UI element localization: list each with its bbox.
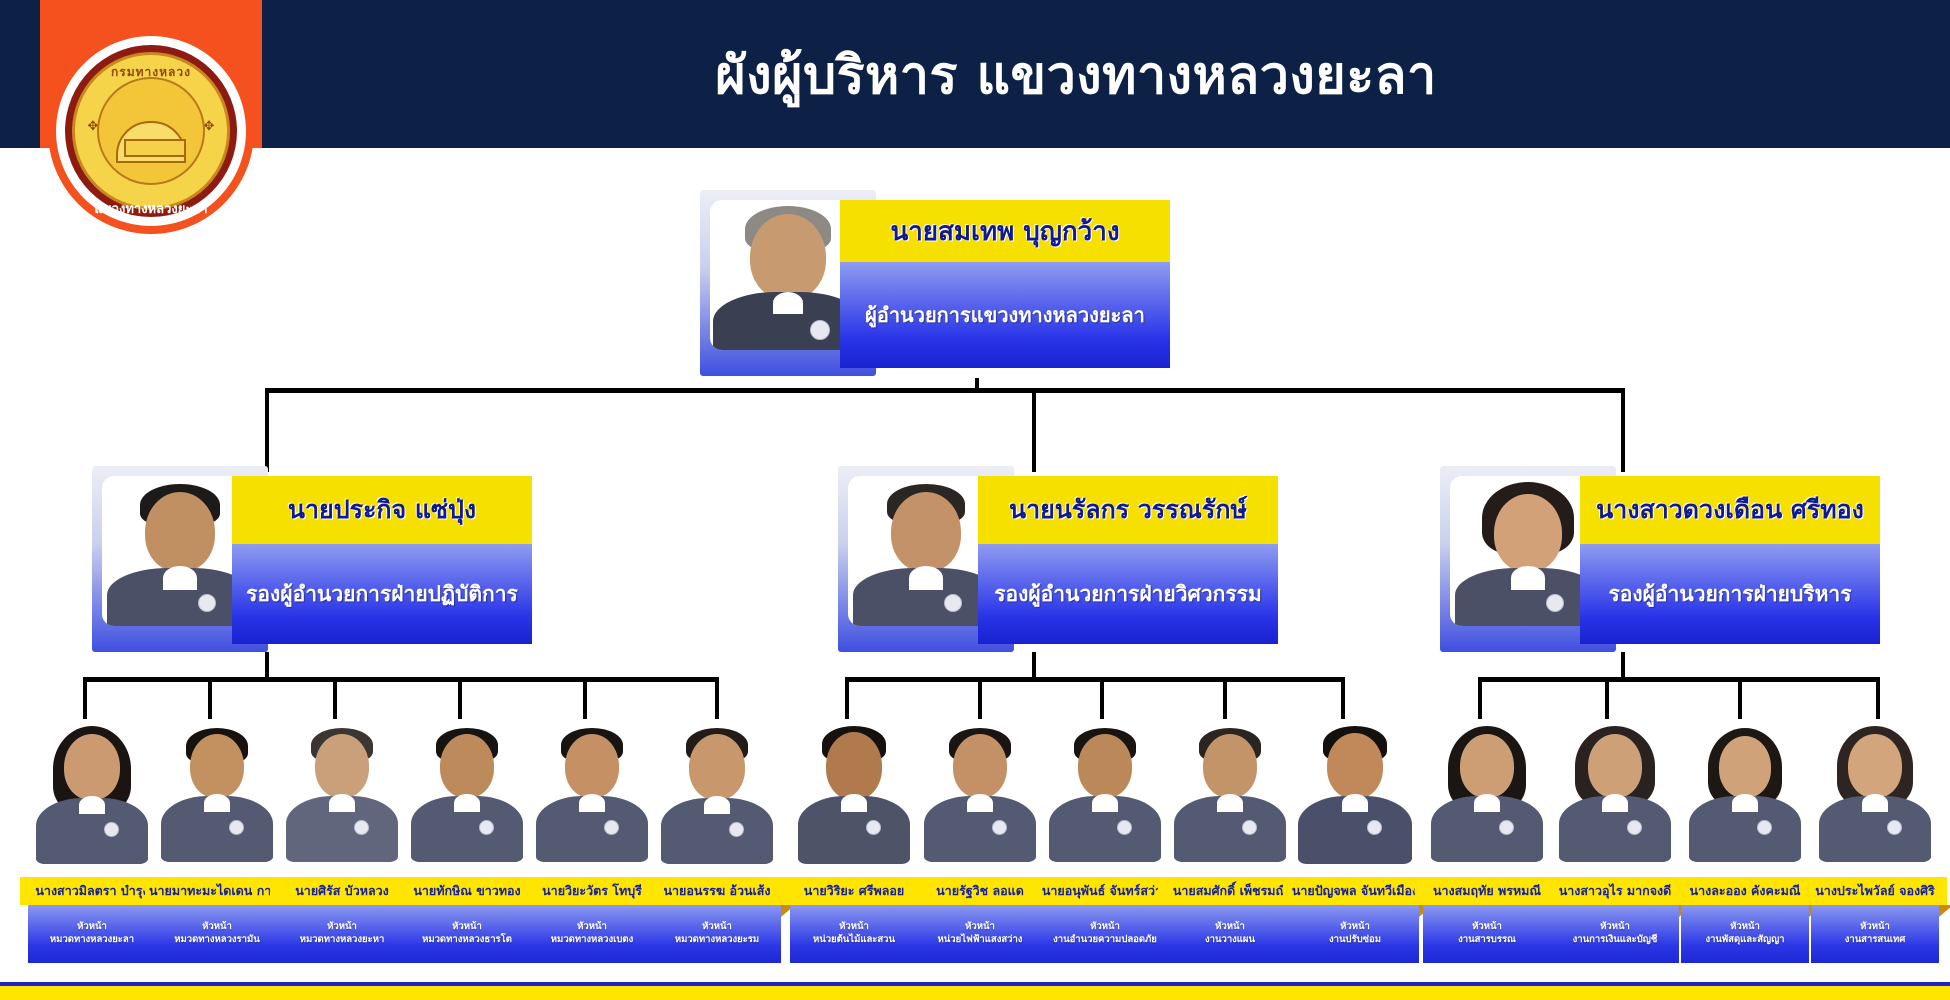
connector-group1-stem [265,652,269,680]
staff-role-line1: หัวหน้า [327,921,357,934]
seal-building-icon [116,121,186,163]
deputy-1-name: นายประกิจ แซ่ปุ่ง [232,476,532,544]
deputy-2-text-block: นายนรัลกร วรรณรักษ์ รองผู้อำนวยการฝ่ายวิ… [978,476,1278,644]
staff-role: หัวหน้า หมวดทางหลวงยะลา [28,905,156,963]
connector-group1-drop-1 [83,677,87,719]
deputy-card-operations[interactable]: นายประกิจ แซ่ปุ่ง รองผู้อำนวยการฝ่ายปฏิบ… [92,458,542,648]
staff-name: นางประไพวัลย์ จองศิริ [1803,877,1947,905]
staff-role-line2: หมวดทางหลวงธารโต [422,934,512,947]
deputy-2-name: นายนรัลกร วรรณรักษ์ [978,476,1278,544]
staff-role: หัวหน้า หมวดทางหลวงรามัน [153,905,281,963]
staff-role-line1: หัวหน้า [1472,921,1502,934]
staff-photo [794,722,914,877]
director-name: นายสมเทพ บุญกว้าง [840,200,1170,262]
staff-name: นายอนรรฆ อ้วนเส้ง [645,877,789,905]
org-chart-page: กรมทางหลวง ✥ ✥ แขวงทางหลวงยะลา ผังผู้บริ… [0,0,1950,1000]
seal-text-bottom: แขวงทางหลวงยะลา [48,186,254,230]
deputy-card-administration[interactable]: นางสาวดวงเดือน ศรีทอง รองผู้อำนวยการฝ่าย… [1440,458,1910,648]
staff-photo [1815,722,1935,877]
director-card[interactable]: นายสมเทพ บุญกว้าง ผู้อำนวยการแขวงทางหลวง… [700,182,1170,382]
staff-photo [1295,722,1415,877]
staff-role-line1: หัวหน้า [577,921,607,934]
staff-photo [1685,722,1805,877]
connector-group1-drop-6 [715,677,719,719]
staff-name: นางสาวอุไร มากจงดี [1543,877,1687,905]
staff-role-line2: หน่วยไฟฟ้าแสงสว่าง [938,934,1023,947]
staff-photo [282,722,402,877]
deputy-3-role: รองผู้อำนวยการฝ่ายบริหาร [1580,544,1880,644]
connector-group2-drop-1 [845,677,849,719]
staff-role-line2: งานอำนวยความปลอดภัย [1053,934,1157,947]
deputy-3-text-block: นางสาวดวงเดือน ศรีทอง รองผู้อำนวยการฝ่าย… [1580,476,1880,644]
staff-role-line2: หมวดทางหลวงยะลา [50,934,134,947]
connector-group2-drop-2 [978,677,982,719]
connector-group1-drop-3 [333,677,337,719]
connector-group3-drop-3 [1738,677,1742,719]
staff-role-line2: หมวดทางหลวงรามัน [174,934,260,947]
staff-photo [157,722,277,877]
staff-name: นายทักษิณ ขาวทอง [395,877,539,905]
staff-role: หัวหน้า หมวดทางหลวงเบตง [528,905,656,963]
connector-group1-drop-4 [458,677,462,719]
staff-role: หัวหน้า งานสารบรรณ [1423,905,1551,963]
staff-role-line2: งานพัสดุและสัญญา [1705,934,1784,947]
connector-group1-drop-2 [208,677,212,719]
staff-role-line1: หัวหน้า [702,921,732,934]
staff-role-line1: หัวหน้า [839,921,869,934]
footer-bar [0,986,1950,1000]
staff-role-line2: งานสารบรรณ [1458,934,1516,947]
staff-role-line1: หัวหน้า [202,921,232,934]
staff-photo [1170,722,1290,877]
connector-group2-drop-4 [1223,677,1227,719]
staff-photo [532,722,652,877]
staff-role: หัวหน้า งานสารสนเทศ [1811,905,1939,963]
staff-name: นายวิยะวัตร โทบุรี [520,877,664,905]
staff-role-line2: งานปรับซ่อม [1329,934,1381,947]
staff-role: หัวหน้า หมวดทางหลวงยะหา [278,905,406,963]
staff-role: หัวหน้า หน่วยไฟฟ้าแสงสว่าง [916,905,1044,963]
staff-name: นายวิริยะ ศรีพลอย [782,877,926,905]
staff-role-line1: หัวหน้า [77,921,107,934]
staff-role-line1: หัวหน้า [1090,921,1120,934]
deputy-1-role: รองผู้อำนวยการฝ่ายปฏิบัติการ [232,544,532,644]
staff-photo [657,722,777,877]
staff-role: หัวหน้า งานอำนวยความปลอดภัย [1041,905,1169,963]
connector-group2-drop-5 [1341,677,1345,719]
staff-name: นายรัฐวิช ลอแด [908,877,1052,905]
staff-name: นางละออง คังคะมณี [1673,877,1817,905]
staff-name: นายมาทะมะไดเดน กาสง [145,877,289,905]
staff-role-line2: หน่วยต้นไม้และสวน [813,934,895,947]
staff-role-line2: หมวดทางหลวงเบตง [551,934,633,947]
staff-name: นายศิรัส บัวหลวง [270,877,414,905]
staff-role-line1: หัวหน้า [1600,921,1630,934]
deputy-2-role: รองผู้อำนวยการฝ่ายวิศวกรรม [978,544,1278,644]
connector-group2-stem [1032,652,1036,680]
connector-group1-horizontal [83,677,719,682]
staff-role-line1: หัวหน้า [452,921,482,934]
staff-name: นายปัญจพล จันทวีเมือง [1283,877,1427,905]
connector-group3-stem [1621,652,1625,680]
staff-role-line2: งานวางแผน [1205,934,1255,947]
staff-photo [32,722,152,877]
staff-role: หัวหน้า งานพัสดุและสัญญา [1681,905,1809,963]
staff-photo [1427,722,1547,877]
staff-photo [1045,722,1165,877]
connector-group3-drop-4 [1876,677,1880,719]
staff-role-line1: หัวหน้า [965,921,995,934]
connector-group3-horizontal [1478,677,1880,682]
connector-deputies-horizontal [265,388,1625,393]
staff-role-line1: หัวหน้า [1340,921,1370,934]
staff-role: หัวหน้า หน่วยต้นไม้และสวน [790,905,918,963]
staff-role: หัวหน้า หมวดทางหลวงธารโต [403,905,531,963]
director-text-block: นายสมเทพ บุญกว้าง ผู้อำนวยการแขวงทางหลวง… [840,200,1170,368]
seal-inner-disc [97,77,205,185]
staff-role-line2: หมวดทางหลวงยะรม [675,934,759,947]
staff-role-line1: หัวหน้า [1860,921,1890,934]
staff-name: นางสมฤทัย พรหมณี [1415,877,1559,905]
director-role: ผู้อำนวยการแขวงทางหลวงยะลา [840,262,1170,368]
staff-photo [920,722,1040,877]
staff-photo [407,722,527,877]
connector-group2-drop-3 [1100,677,1104,719]
deputy-3-name: นางสาวดวงเดือน ศรีทอง [1580,476,1880,544]
staff-role-line1: หัวหน้า [1215,921,1245,934]
staff-role: หัวหน้า งานวางแผน [1166,905,1294,963]
staff-role-line1: หัวหน้า [1730,921,1760,934]
connector-group1-drop-5 [583,677,587,719]
staff-role-line2: งานการเงินและบัญชี [1573,934,1658,947]
staff-role: หัวหน้า งานปรับซ่อม [1291,905,1419,963]
staff-name: นางสาวมิลตรา บำรุง [20,877,164,905]
deputy-1-text-block: นายประกิจ แซ่ปุ่ง รองผู้อำนวยการฝ่ายปฏิบ… [232,476,532,644]
staff-role-fold [1939,905,1950,917]
staff-role: หัวหน้า หมวดทางหลวงยะรม [653,905,781,963]
staff-role: หัวหน้า งานการเงินและบัญชี [1551,905,1679,963]
staff-role-line2: หมวดทางหลวงยะหา [300,934,385,947]
staff-photo [1555,722,1675,877]
staff-name: นายอนุพันธ์ จันทร์สว่าง [1033,877,1177,905]
staff-name: นายสมศักดิ์ เพ็ชรมณี [1158,877,1302,905]
deputy-card-engineering[interactable]: นายนรัลกร วรรณรักษ์ รองผู้อำนวยการฝ่ายวิ… [838,458,1288,648]
connector-group3-drop-1 [1478,677,1482,719]
connector-group2-horizontal [845,677,1345,682]
connector-group3-drop-2 [1605,677,1609,719]
page-title: ผังผู้บริหาร แขวงทางหลวงยะลา [262,0,1950,148]
staff-role-line2: งานสารสนเทศ [1845,934,1906,947]
